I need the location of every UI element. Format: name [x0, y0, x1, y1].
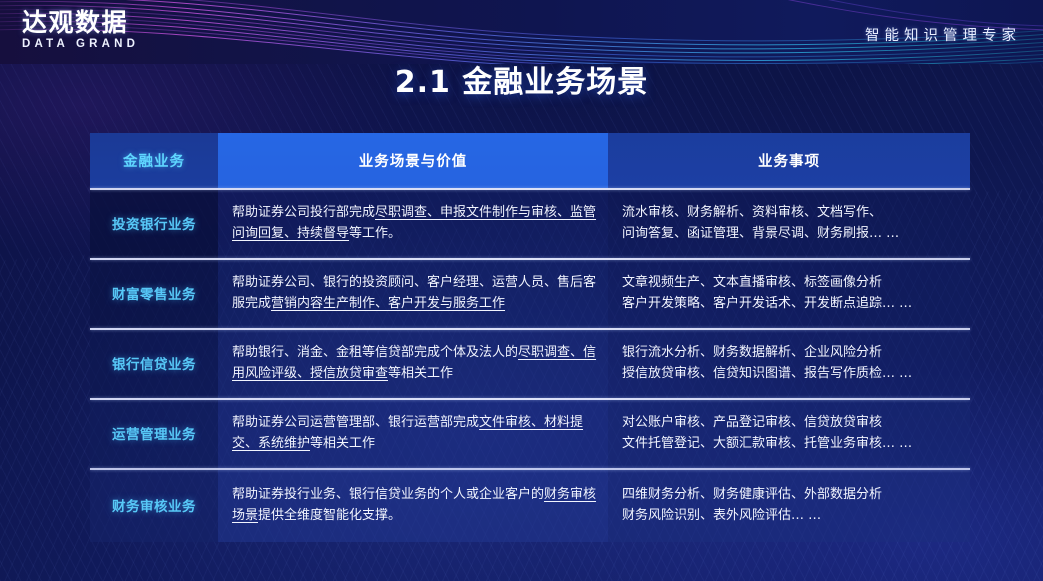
- scenario-plain: 帮助证券公司运营管理部、银行运营部完成: [232, 415, 479, 430]
- table-row: 财务审核业务 帮助证券投行业务、银行信贷业务的个人或企业客户的财务审核场景提供全…: [90, 468, 970, 542]
- row-separator: [90, 328, 970, 330]
- row-scenario-text: 帮助证券投行业务、银行信贷业务的个人或企业客户的财务审核场景提供全维度智能化支撑…: [218, 468, 608, 542]
- brand-name-cn: 达观数据: [22, 10, 139, 35]
- items-line-2: 客户开发策略、客户开发话术、开发断点追踪… …: [622, 293, 962, 314]
- row-business-label: 财富零售业务: [90, 258, 218, 328]
- table-header-cell-business: 金融业务: [90, 133, 218, 188]
- row-items-text: 流水审核、财务解析、资料审核、文档写作、 问询答复、函证管理、背景尽调、财务刷报…: [608, 188, 970, 258]
- scenario-tail: 等相关工作: [388, 366, 453, 381]
- table-header-cell-scenario: 业务场景与价值: [218, 133, 608, 188]
- row-items-text: 文章视频生产、文本直播审核、标签画像分析 客户开发策略、客户开发话术、开发断点追…: [608, 258, 970, 328]
- business-scenario-table: 金融业务 业务场景与价值 业务事项 投资银行业务 帮助证券公司投行部完成尽职调查…: [90, 133, 970, 542]
- row-business-label: 运营管理业务: [90, 398, 218, 468]
- row-separator: [90, 398, 970, 400]
- items-line-1: 文章视频生产、文本直播审核、标签画像分析: [622, 272, 962, 293]
- items-line-2: 问询答复、函证管理、背景尽调、财务刷报… …: [622, 223, 962, 244]
- scenario-underlined: 营销内容生产制作、客户开发与服务工作: [271, 296, 505, 311]
- brand-logo: 达观数据 DATA GRAND: [22, 10, 139, 51]
- scenario-tail: 提供全维度智能化支撑。: [258, 508, 401, 523]
- scenario-plain: 帮助证券公司投行部完成: [232, 205, 375, 220]
- items-line-1: 流水审核、财务解析、资料审核、文档写作、: [622, 202, 962, 223]
- row-items-text: 银行流水分析、财务数据解析、企业风险分析 授信放贷审核、信贷知识图谱、报告写作质…: [608, 328, 970, 398]
- scenario-tail: 等相关工作: [310, 436, 375, 451]
- row-business-label: 银行信贷业务: [90, 328, 218, 398]
- table-header-cell-items: 业务事项: [608, 133, 970, 188]
- row-separator: [90, 468, 970, 470]
- scenario-plain: 帮助证券投行业务、银行信贷业务的个人或企业客户的: [232, 487, 544, 502]
- row-scenario-text: 帮助证券公司投行部完成尽职调查、申报文件制作与审核、监管问询回复、持续督导等工作…: [218, 188, 608, 258]
- row-scenario-text: 帮助证券公司、银行的投资顾问、客户经理、运营人员、售后客服完成营销内容生产制作、…: [218, 258, 608, 328]
- slide-banner: 达观数据 DATA GRAND 智能知识管理专家: [0, 0, 1043, 64]
- row-scenario-text: 帮助证券公司运营管理部、银行运营部完成文件审核、材料提交、系统维护等相关工作: [218, 398, 608, 468]
- brand-name-en: DATA GRAND: [22, 39, 139, 51]
- row-items-text: 四维财务分析、财务健康评估、外部数据分析 财务风险识别、表外风险评估… …: [608, 468, 970, 542]
- items-line-2: 授信放贷审核、信贷知识图谱、报告写作质检… …: [622, 363, 962, 384]
- items-line-1: 银行流水分析、财务数据解析、企业风险分析: [622, 342, 962, 363]
- brand-tagline: 智能知识管理专家: [865, 24, 1021, 45]
- row-scenario-text: 帮助银行、消金、金租等信贷部完成个体及法人的尽职调查、信用风险评级、授信放贷审查…: [218, 328, 608, 398]
- table-row: 运营管理业务 帮助证券公司运营管理部、银行运营部完成文件审核、材料提交、系统维护…: [90, 398, 970, 468]
- table-row: 财富零售业务 帮助证券公司、银行的投资顾问、客户经理、运营人员、售后客服完成营销…: [90, 258, 970, 328]
- row-business-label: 财务审核业务: [90, 468, 218, 542]
- row-separator: [90, 258, 970, 260]
- row-separator: [90, 188, 970, 190]
- row-items-text: 对公账户审核、产品登记审核、信贷放贷审核 文件托管登记、大额汇款审核、托管业务审…: [608, 398, 970, 468]
- table-header-row: 金融业务 业务场景与价值 业务事项: [90, 133, 970, 188]
- row-business-label: 投资银行业务: [90, 188, 218, 258]
- items-line-2: 文件托管登记、大额汇款审核、托管业务审核… …: [622, 433, 962, 454]
- page-title: 2.1 金融业务场景: [0, 57, 1043, 101]
- scenario-tail: 等工作。: [349, 226, 401, 241]
- items-line-1: 四维财务分析、财务健康评估、外部数据分析: [622, 484, 962, 505]
- table-row: 银行信贷业务 帮助银行、消金、金租等信贷部完成个体及法人的尽职调查、信用风险评级…: [90, 328, 970, 398]
- items-line-1: 对公账户审核、产品登记审核、信贷放贷审核: [622, 412, 962, 433]
- table-row: 投资银行业务 帮助证券公司投行部完成尽职调查、申报文件制作与审核、监管问询回复、…: [90, 188, 970, 258]
- items-line-2: 财务风险识别、表外风险评估… …: [622, 505, 962, 526]
- scenario-plain: 帮助银行、消金、金租等信贷部完成个体及法人的: [232, 345, 518, 360]
- slide-canvas: 达观数据 DATA GRAND 智能知识管理专家 2.1 金融业务场景 金融业务…: [0, 0, 1043, 581]
